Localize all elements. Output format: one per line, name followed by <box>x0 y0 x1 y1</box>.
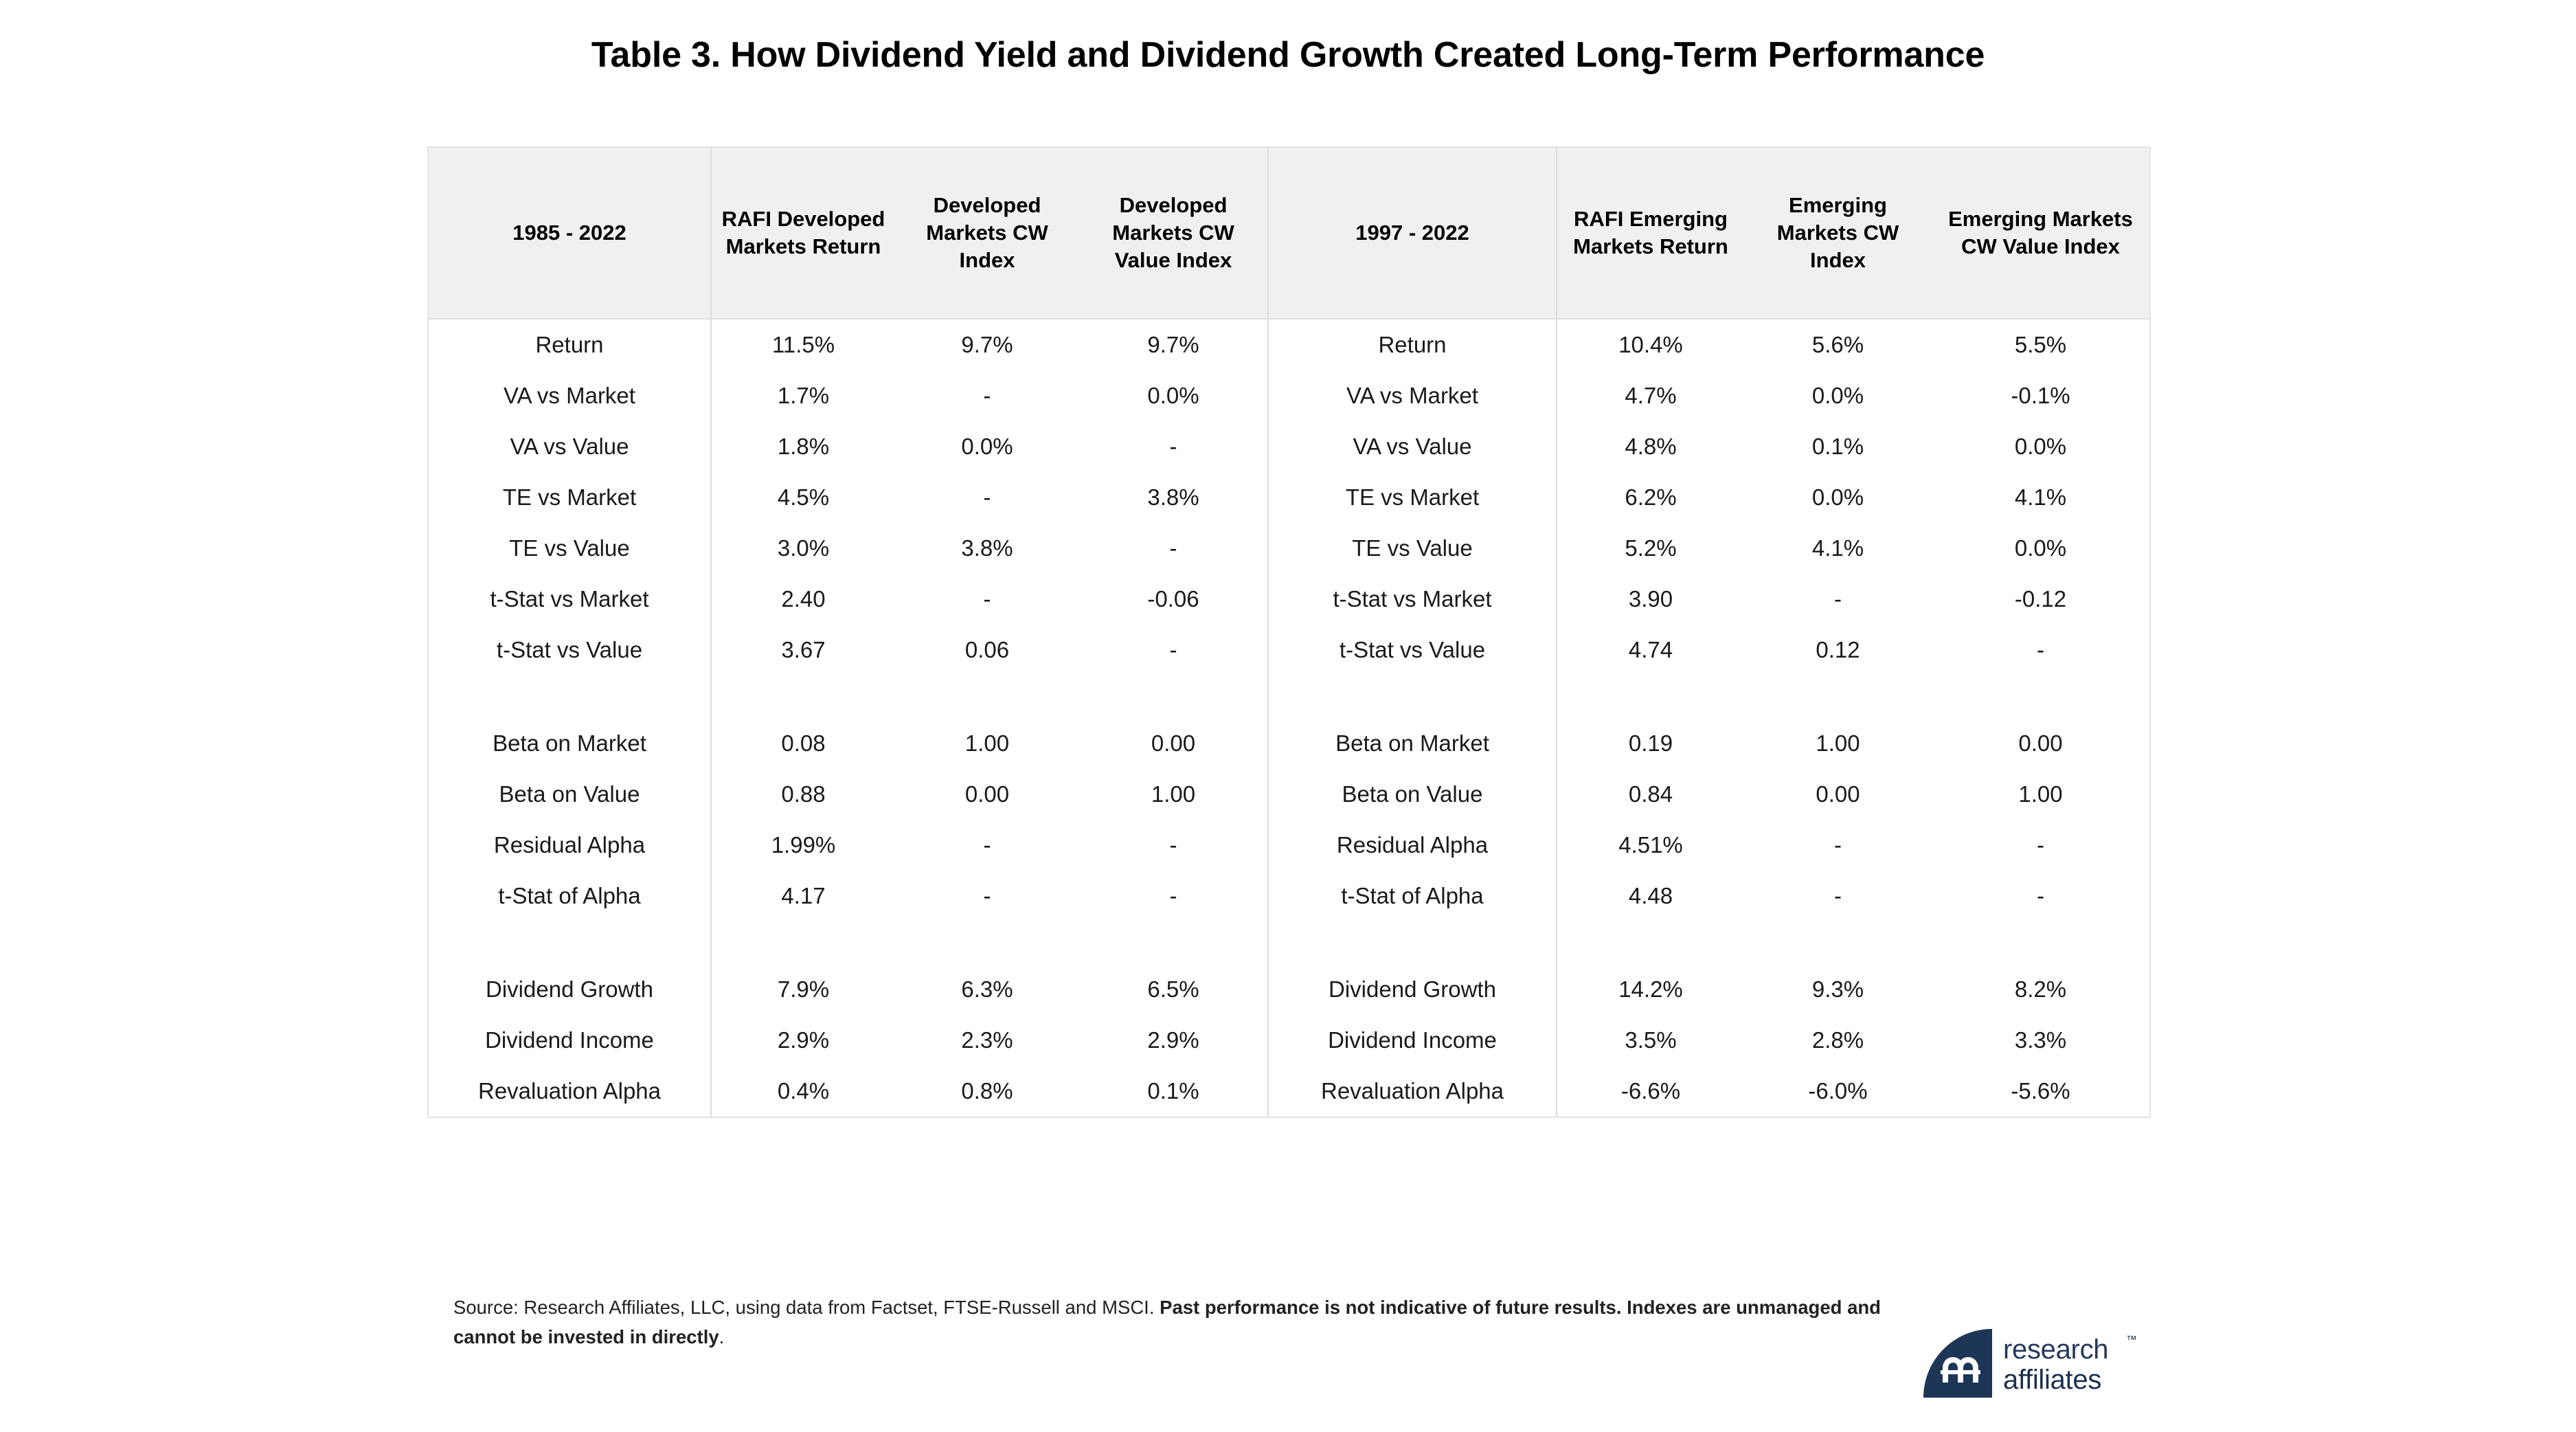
cell-rafi-emerging-return: 3.90 <box>1557 574 1744 625</box>
cell-developed-cw-index: 0.00 <box>895 769 1079 820</box>
header-emerging-cw-value-index: Emerging Markets CW Value Index <box>1932 147 2150 319</box>
table-row: t-Stat vs Market2.40--0.06t-Stat vs Mark… <box>428 574 2150 625</box>
cell-developed-cw-value-index: 0.1% <box>1079 1066 1268 1117</box>
spacer-cell <box>1268 921 1557 964</box>
spacer-cell <box>1932 921 2150 964</box>
header-developed-cw-value-index: Developed Markets CW Value Index <box>1079 147 1268 319</box>
cell-emerging-cw-value-index: 3.3% <box>1932 1015 2150 1066</box>
trademark-icon: ™ <box>2126 1334 2137 1347</box>
cell-rafi-developed-return: 0.08 <box>711 718 895 769</box>
research-affiliates-logo: research affiliates ™ <box>1923 1326 2150 1409</box>
table-row: TE vs Market4.5%-3.8%TE vs Market6.2%0.0… <box>428 472 2150 523</box>
table-row: VA vs Value1.8%0.0%-VA vs Value4.8%0.1%0… <box>428 421 2150 472</box>
row-label-emerging: TE vs Market <box>1268 472 1557 523</box>
page-title: Table 3. How Dividend Yield and Dividend… <box>0 34 2576 76</box>
table-row: Revaluation Alpha0.4%0.8%0.1%Revaluation… <box>428 1066 2150 1117</box>
cell-rafi-developed-return: 7.9% <box>711 964 895 1015</box>
header-developed-cw-index: Developed Markets CW Index <box>895 147 1079 319</box>
cell-emerging-cw-value-index: 0.0% <box>1932 523 2150 574</box>
cell-rafi-emerging-return: 6.2% <box>1557 472 1744 523</box>
cell-developed-cw-index: 0.0% <box>895 421 1079 472</box>
cell-developed-cw-index: - <box>895 820 1079 871</box>
cell-developed-cw-value-index: - <box>1079 820 1268 871</box>
row-label-developed: Dividend Income <box>428 1015 711 1066</box>
table-spacer-row <box>428 675 2150 718</box>
spacer-cell <box>1744 921 1932 964</box>
cell-rafi-emerging-return: 4.8% <box>1557 421 1744 472</box>
cell-emerging-cw-value-index: 0.00 <box>1932 718 2150 769</box>
row-label-developed: t-Stat vs Market <box>428 574 711 625</box>
cell-emerging-cw-value-index: -0.1% <box>1932 370 2150 421</box>
cell-emerging-cw-index: 2.8% <box>1744 1015 1932 1066</box>
header-period-developed: 1985 - 2022 <box>428 147 711 319</box>
table-body: Return11.5%9.7%9.7%Return10.4%5.6%5.5%VA… <box>428 319 2150 1117</box>
cell-emerging-cw-index: - <box>1744 574 1932 625</box>
cell-developed-cw-value-index: 2.9% <box>1079 1015 1268 1066</box>
row-label-emerging: VA vs Value <box>1268 421 1557 472</box>
spacer-cell <box>1557 921 1744 964</box>
cell-developed-cw-index: 9.7% <box>895 319 1079 370</box>
cell-rafi-developed-return: 1.99% <box>711 820 895 871</box>
row-label-developed: Revaluation Alpha <box>428 1066 711 1117</box>
row-label-developed: TE vs Market <box>428 472 711 523</box>
cell-emerging-cw-value-index: -5.6% <box>1932 1066 2150 1117</box>
row-label-emerging: Dividend Income <box>1268 1015 1557 1066</box>
cell-rafi-emerging-return: 3.5% <box>1557 1015 1744 1066</box>
table-page: Table 3. How Dividend Yield and Dividend… <box>0 0 2576 1432</box>
cell-emerging-cw-value-index: -0.12 <box>1932 574 2150 625</box>
logo-line-research: research <box>2003 1336 2108 1363</box>
row-label-emerging: Dividend Growth <box>1268 964 1557 1015</box>
cell-rafi-emerging-return: 0.19 <box>1557 718 1744 769</box>
cell-emerging-cw-index: -6.0% <box>1744 1066 1932 1117</box>
cell-emerging-cw-value-index: 5.5% <box>1932 319 2150 370</box>
table-row: Dividend Income2.9%2.3%2.9%Dividend Inco… <box>428 1015 2150 1066</box>
cell-emerging-cw-index: 5.6% <box>1744 319 1932 370</box>
spacer-cell <box>711 675 895 718</box>
cell-developed-cw-index: 3.8% <box>895 523 1079 574</box>
table-row: t-Stat vs Value3.670.06-t-Stat vs Value4… <box>428 625 2150 675</box>
row-label-emerging: t-Stat vs Value <box>1268 625 1557 675</box>
table-row: Beta on Value0.880.001.00Beta on Value0.… <box>428 769 2150 820</box>
cell-developed-cw-value-index: - <box>1079 523 1268 574</box>
cell-emerging-cw-value-index: 0.0% <box>1932 421 2150 472</box>
row-label-developed: Residual Alpha <box>428 820 711 871</box>
cell-emerging-cw-value-index: 1.00 <box>1932 769 2150 820</box>
cell-developed-cw-index: 0.8% <box>895 1066 1079 1117</box>
cell-developed-cw-value-index: 3.8% <box>1079 472 1268 523</box>
cell-developed-cw-value-index: - <box>1079 625 1268 675</box>
cell-developed-cw-index: - <box>895 871 1079 921</box>
cell-developed-cw-index: 1.00 <box>895 718 1079 769</box>
row-label-developed: Beta on Market <box>428 718 711 769</box>
row-label-emerging: Beta on Market <box>1268 718 1557 769</box>
spacer-cell <box>1557 675 1744 718</box>
cell-developed-cw-value-index: - <box>1079 871 1268 921</box>
cell-rafi-emerging-return: 4.51% <box>1557 820 1744 871</box>
cell-rafi-developed-return: 11.5% <box>711 319 895 370</box>
cell-rafi-emerging-return: 4.7% <box>1557 370 1744 421</box>
spacer-cell <box>1932 675 2150 718</box>
cell-emerging-cw-value-index: 4.1% <box>1932 472 2150 523</box>
cell-rafi-developed-return: 0.4% <box>711 1066 895 1117</box>
cell-emerging-cw-index: - <box>1744 820 1932 871</box>
cell-rafi-emerging-return: 5.2% <box>1557 523 1744 574</box>
header-period-emerging: 1997 - 2022 <box>1268 147 1557 319</box>
header-rafi-emerging-return: RAFI Emerging Markets Return <box>1557 147 1744 319</box>
cell-emerging-cw-index: - <box>1744 871 1932 921</box>
logo-wordmark: research affiliates <box>2003 1336 2108 1394</box>
row-label-emerging: t-Stat of Alpha <box>1268 871 1557 921</box>
cell-developed-cw-value-index: 9.7% <box>1079 319 1268 370</box>
footnote-source-text: Source: Research Affiliates, LLC, using … <box>453 1297 1160 1318</box>
cell-rafi-emerging-return: 14.2% <box>1557 964 1744 1015</box>
logo-line-affiliates: affiliates <box>2003 1366 2108 1394</box>
table-row: TE vs Value3.0%3.8%-TE vs Value5.2%4.1%0… <box>428 523 2150 574</box>
cell-rafi-emerging-return: 10.4% <box>1557 319 1744 370</box>
performance-table: 1985 - 2022 RAFI Developed Markets Retur… <box>427 146 2151 1118</box>
header-emerging-cw-index: Emerging Markets CW Index <box>1744 147 1932 319</box>
row-label-developed: t-Stat vs Value <box>428 625 711 675</box>
cell-emerging-cw-index: 0.0% <box>1744 472 1932 523</box>
cell-rafi-developed-return: 4.17 <box>711 871 895 921</box>
spacer-cell <box>895 675 1079 718</box>
cell-developed-cw-value-index: - <box>1079 421 1268 472</box>
footnote-disclaimer-1: Past performance is not indicative of fu… <box>1160 1297 1621 1318</box>
cell-rafi-developed-return: 0.88 <box>711 769 895 820</box>
spacer-cell <box>1744 675 1932 718</box>
row-label-emerging: Residual Alpha <box>1268 820 1557 871</box>
cell-emerging-cw-value-index: 8.2% <box>1932 964 2150 1015</box>
cell-rafi-emerging-return: 4.48 <box>1557 871 1744 921</box>
footnote-period: . <box>719 1326 725 1347</box>
performance-table-container: 1985 - 2022 RAFI Developed Markets Retur… <box>427 146 2149 1118</box>
table-row: Dividend Growth7.9%6.3%6.5%Dividend Grow… <box>428 964 2150 1015</box>
cell-emerging-cw-index: 0.1% <box>1744 421 1932 472</box>
cell-developed-cw-index: - <box>895 370 1079 421</box>
cell-developed-cw-value-index: 0.0% <box>1079 370 1268 421</box>
row-label-emerging: Return <box>1268 319 1557 370</box>
cell-rafi-developed-return: 1.7% <box>711 370 895 421</box>
row-label-emerging: VA vs Market <box>1268 370 1557 421</box>
header-rafi-developed-return: RAFI Developed Markets Return <box>711 147 895 319</box>
row-label-developed: VA vs Value <box>428 421 711 472</box>
cell-developed-cw-value-index: -0.06 <box>1079 574 1268 625</box>
cell-emerging-cw-index: 4.1% <box>1744 523 1932 574</box>
cell-developed-cw-index: - <box>895 472 1079 523</box>
row-label-developed: TE vs Value <box>428 523 711 574</box>
cell-emerging-cw-index: 0.12 <box>1744 625 1932 675</box>
research-affiliates-mark-icon <box>1923 1329 1992 1398</box>
cell-developed-cw-value-index: 6.5% <box>1079 964 1268 1015</box>
cell-developed-cw-value-index: 0.00 <box>1079 718 1268 769</box>
table-row: Beta on Market0.081.000.00Beta on Market… <box>428 718 2150 769</box>
spacer-cell <box>428 675 711 718</box>
table-row: VA vs Market1.7%-0.0%VA vs Market4.7%0.0… <box>428 370 2150 421</box>
spacer-cell <box>428 921 711 964</box>
cell-rafi-emerging-return: 0.84 <box>1557 769 1744 820</box>
spacer-cell <box>1079 921 1268 964</box>
row-label-emerging: TE vs Value <box>1268 523 1557 574</box>
cell-rafi-developed-return: 2.9% <box>711 1015 895 1066</box>
row-label-emerging: Beta on Value <box>1268 769 1557 820</box>
cell-rafi-developed-return: 3.0% <box>711 523 895 574</box>
cell-developed-cw-value-index: 1.00 <box>1079 769 1268 820</box>
row-label-emerging: Revaluation Alpha <box>1268 1066 1557 1117</box>
header-row: 1985 - 2022 RAFI Developed Markets Retur… <box>428 147 2150 319</box>
cell-developed-cw-index: 2.3% <box>895 1015 1079 1066</box>
table-row: Residual Alpha1.99%--Residual Alpha4.51%… <box>428 820 2150 871</box>
row-label-developed: Return <box>428 319 711 370</box>
row-label-developed: VA vs Market <box>428 370 711 421</box>
cell-developed-cw-index: - <box>895 574 1079 625</box>
cell-rafi-emerging-return: 4.74 <box>1557 625 1744 675</box>
row-label-developed: t-Stat of Alpha <box>428 871 711 921</box>
cell-rafi-developed-return: 1.8% <box>711 421 895 472</box>
table-spacer-row <box>428 921 2150 964</box>
cell-rafi-emerging-return: -6.6% <box>1557 1066 1744 1117</box>
source-footnote: Source: Research Affiliates, LLC, using … <box>453 1293 1882 1352</box>
spacer-cell <box>1079 675 1268 718</box>
spacer-cell <box>711 921 895 964</box>
row-label-developed: Dividend Growth <box>428 964 711 1015</box>
row-label-developed: Beta on Value <box>428 769 711 820</box>
cell-rafi-developed-return: 3.67 <box>711 625 895 675</box>
cell-emerging-cw-value-index: - <box>1932 871 2150 921</box>
cell-developed-cw-index: 6.3% <box>895 964 1079 1015</box>
cell-emerging-cw-index: 0.00 <box>1744 769 1932 820</box>
cell-emerging-cw-value-index: - <box>1932 625 2150 675</box>
cell-emerging-cw-index: 0.0% <box>1744 370 1932 421</box>
cell-emerging-cw-index: 9.3% <box>1744 964 1932 1015</box>
cell-emerging-cw-index: 1.00 <box>1744 718 1932 769</box>
row-label-emerging: t-Stat vs Market <box>1268 574 1557 625</box>
cell-rafi-developed-return: 4.5% <box>711 472 895 523</box>
cell-rafi-developed-return: 2.40 <box>711 574 895 625</box>
table-row: Return11.5%9.7%9.7%Return10.4%5.6%5.5% <box>428 319 2150 370</box>
spacer-cell <box>895 921 1079 964</box>
table-header: 1985 - 2022 RAFI Developed Markets Retur… <box>428 147 2150 319</box>
cell-emerging-cw-value-index: - <box>1932 820 2150 871</box>
spacer-cell <box>1268 675 1557 718</box>
table-row: t-Stat of Alpha4.17--t-Stat of Alpha4.48… <box>428 871 2150 921</box>
cell-developed-cw-index: 0.06 <box>895 625 1079 675</box>
